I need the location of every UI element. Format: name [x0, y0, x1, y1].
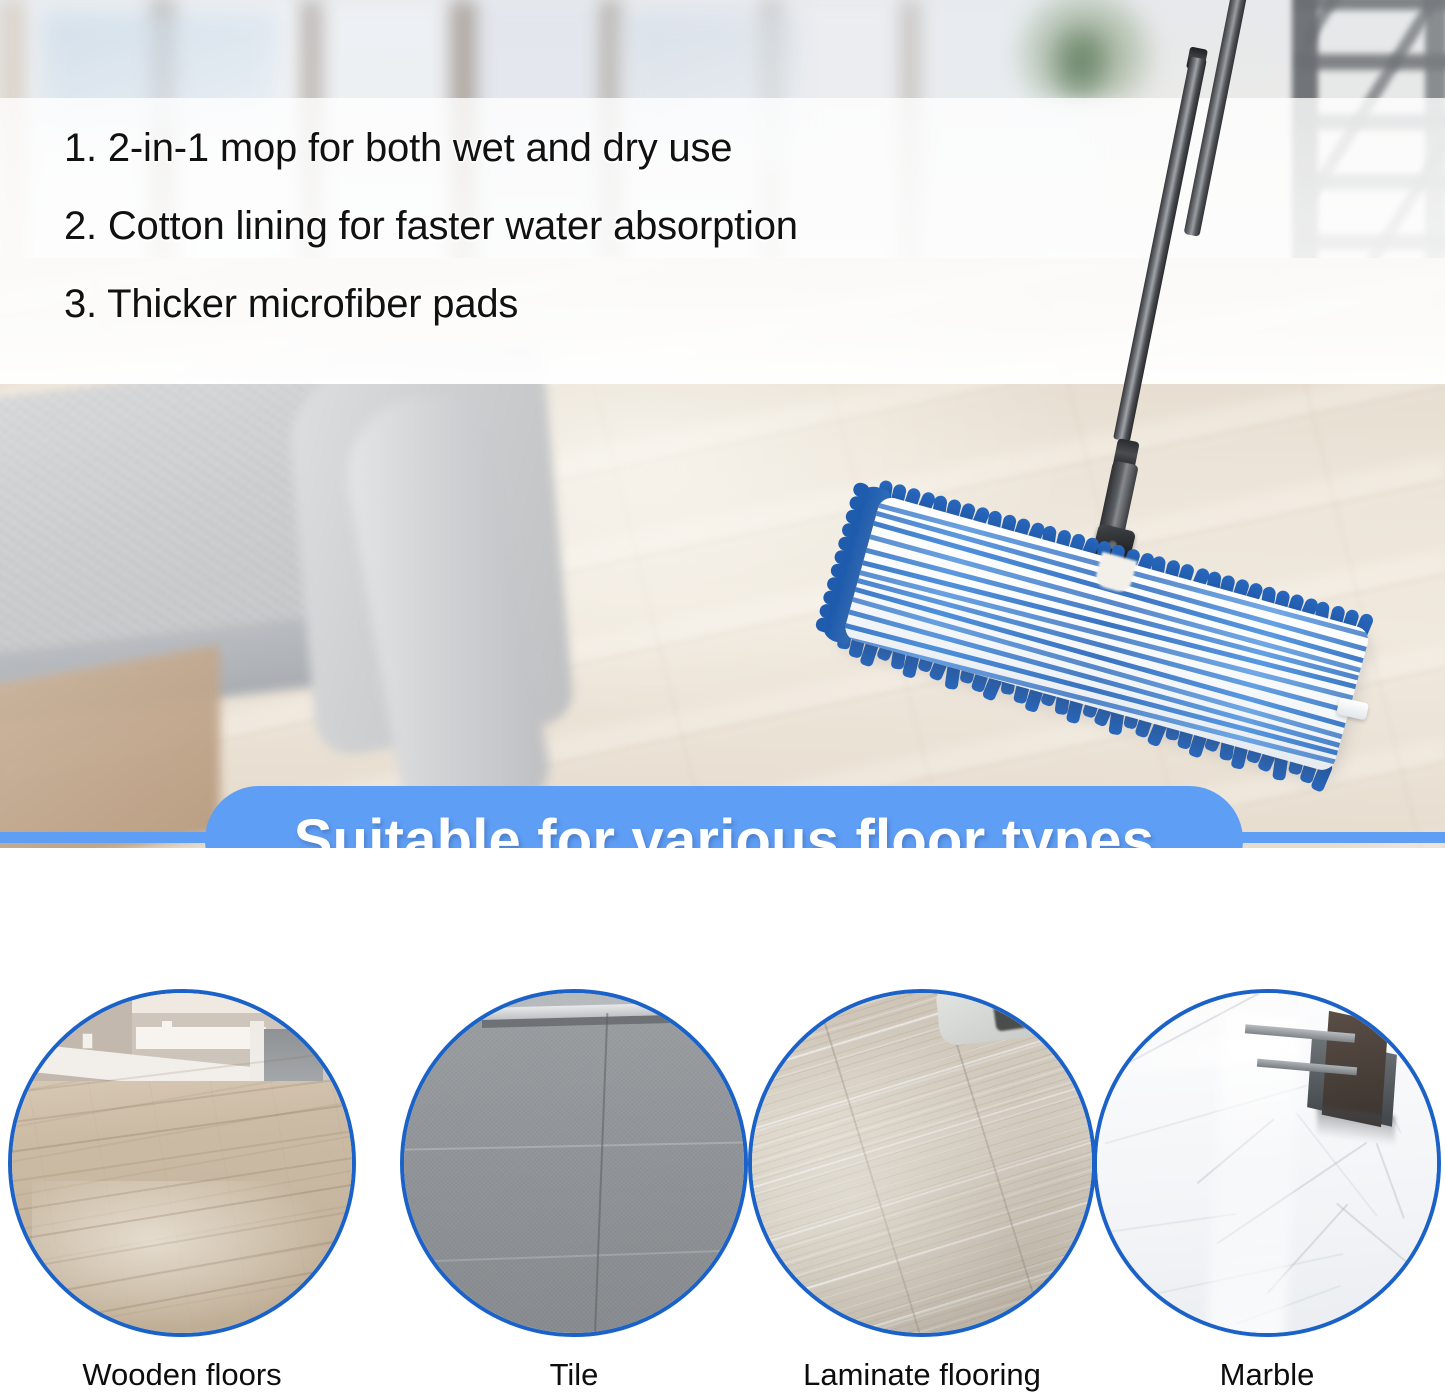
caption-laminate-flooring: Laminate flooring	[803, 1357, 1041, 1393]
floor-type-circle-marble	[1093, 989, 1441, 1337]
caption-marble: Marble	[1220, 1357, 1315, 1393]
wood-room-baseboard-upper	[136, 1027, 266, 1049]
mop-product	[0, 0, 1445, 848]
wood-room-outlet	[82, 1033, 93, 1049]
wood-room-floor	[12, 1081, 356, 1337]
wood-floor-sheen	[32, 1181, 332, 1331]
banner-title: Suitable for various floor types	[294, 807, 1154, 849]
floor-type-captions: Wooden floors Tile Laminate flooring Mar…	[0, 1357, 1445, 1389]
floor-type-circles	[0, 989, 1445, 1341]
mop-handle-lower	[1113, 56, 1207, 442]
floor-type-circle-wooden-floors	[8, 989, 356, 1337]
floor-types-section: Wooden floors Tile Laminate flooring Mar…	[0, 848, 1445, 1389]
caption-wooden-floors: Wooden floors	[82, 1357, 281, 1393]
tile-texture	[404, 993, 744, 1333]
wood-room-wall-upper	[132, 993, 262, 1013]
caption-tile: Tile	[550, 1357, 599, 1393]
wood-room-outlet-2	[162, 1021, 172, 1035]
hero-product-photo: 1. 2-in-1 mop for both wet and dry use 2…	[0, 0, 1445, 848]
banner-pill: Suitable for various floor types	[205, 786, 1243, 848]
floor-type-circle-laminate-flooring	[748, 989, 1096, 1337]
floor-type-circle-tile	[400, 989, 748, 1337]
laminate-light-wash	[752, 993, 1092, 1333]
